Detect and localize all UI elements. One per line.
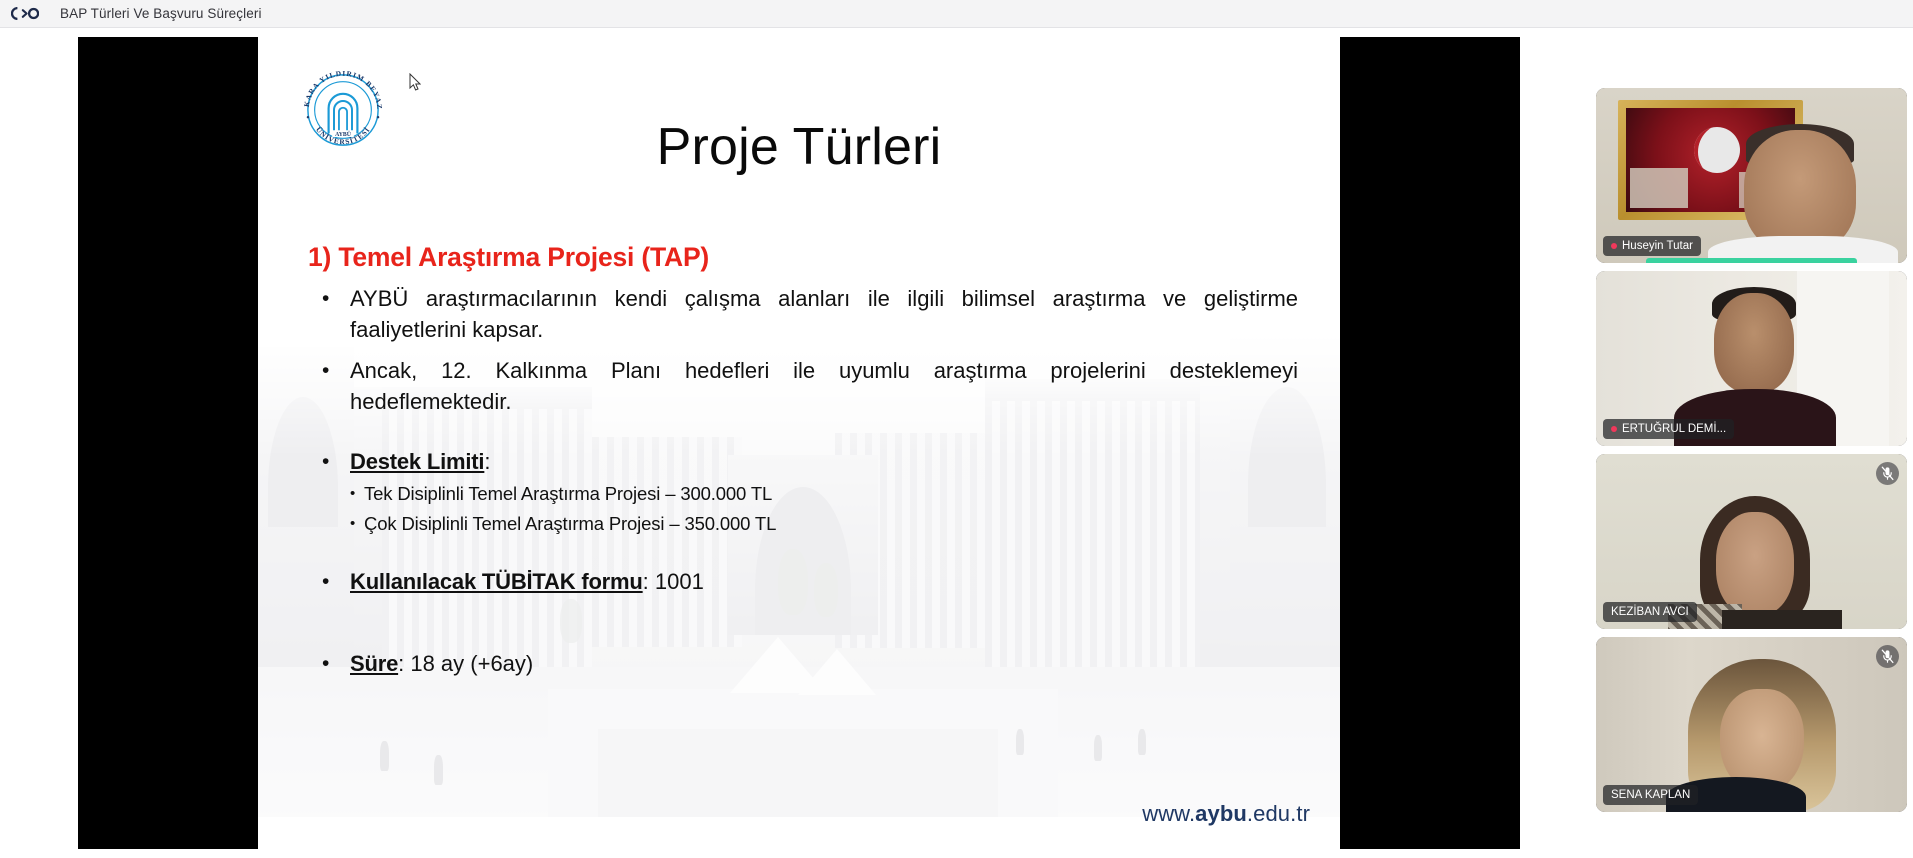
tubitak-form-line: Kullanılacak TÜBİTAK formu: 1001 <box>350 566 1298 597</box>
tubitak-form-label: Kullanılacak TÜBİTAK formu <box>350 569 643 594</box>
participant-tile[interactable]: Huseyin Tutar <box>1596 88 1907 263</box>
sure-line: Süre: 18 ay (+6ay) <box>350 648 1298 679</box>
bullet-text: Ancak, 12. Kalkınma Planı hedefleri ile … <box>350 355 1298 417</box>
sub-bullet-text: Çok Disiplinli Temel Araştırma Projesi –… <box>364 511 776 537</box>
bullet-marker: • <box>308 648 350 679</box>
participant-name-chip: ERTUĞRUL DEMİ... <box>1603 419 1734 439</box>
destek-sub-item: • Çok Disiplinli Temel Araştırma Projesi… <box>350 511 1298 537</box>
slide-body: 1) Temel Araştırma Projesi (TAP) • AYBÜ … <box>308 242 1298 679</box>
sure-value: : 18 ay (+6ay) <box>398 651 533 676</box>
participant-name-chip: SENA KAPLAN <box>1603 785 1698 805</box>
recording-dot-icon <box>1611 426 1617 432</box>
sub-bullet-text: Tek Disiplinli Temel Araştırma Projesi –… <box>364 481 772 507</box>
participant-tile[interactable]: KEZİBAN AVCI <box>1596 454 1907 629</box>
meeting-title: BAP Türleri Ve Başvuru Süreçleri <box>60 6 262 21</box>
sure-bullet: • Süre: 18 ay (+6ay) <box>308 648 1298 679</box>
participant-name: KEZİBAN AVCI <box>1611 606 1689 618</box>
tubitak-form-value: : 1001 <box>643 569 704 594</box>
shared-screen-stage[interactable]: ANKARA YILDIRIM BEYAZIT ÜNİVERSİTESİ AYB… <box>0 28 1590 858</box>
destek-limiti-bullet: • Destek Limiti: <box>308 446 1298 477</box>
sub-bullet-marker: • <box>350 511 364 537</box>
participant-name: ERTUĞRUL DEMİ... <box>1622 423 1726 435</box>
bullet-text: AYBÜ araştırmacılarının kendi çalışma al… <box>350 283 1298 345</box>
bullet-marker: • <box>308 566 350 597</box>
participant-name: SENA KAPLAN <box>1611 789 1690 801</box>
destek-limiti-line: Destek Limiti: <box>350 446 1298 477</box>
footer-prefix: www. <box>1142 801 1195 826</box>
slide-title: Proje Türleri <box>258 117 1340 177</box>
participant-tile[interactable]: ERTUĞRUL DEMİ... <box>1596 271 1907 446</box>
recording-dot-icon <box>1611 243 1617 249</box>
mic-muted-icon[interactable] <box>1876 645 1899 668</box>
mouse-pointer-icon <box>409 73 421 92</box>
presentation-slide: ANKARA YILDIRIM BEYAZIT ÜNİVERSİTESİ AYB… <box>258 37 1340 849</box>
tubitak-form-bullet: • Kullanılacak TÜBİTAK formu: 1001 <box>308 566 1298 597</box>
app-top-bar: BAP Türleri Ve Başvuru Süreçleri <box>0 0 1913 28</box>
participant-tile[interactable]: SENA KAPLAN <box>1596 637 1907 812</box>
screen-share-viewport[interactable]: ANKARA YILDIRIM BEYAZIT ÜNİVERSİTESİ AYB… <box>78 37 1520 849</box>
participant-name-chip: Huseyin Tutar <box>1603 236 1701 256</box>
bullet-item: • AYBÜ araştırmacılarının kendi çalışma … <box>308 283 1298 345</box>
participant-name: Huseyin Tutar <box>1622 240 1693 252</box>
sub-bullet-marker: • <box>350 481 364 507</box>
webex-logo-icon <box>11 7 39 20</box>
destek-limiti-colon: : <box>484 449 490 474</box>
destek-limiti-label: Destek Limiti <box>350 449 484 474</box>
bullet-marker: • <box>308 446 350 477</box>
footer-brand: aybu <box>1195 801 1247 826</box>
footer-suffix: .edu.tr <box>1247 801 1310 826</box>
slide-footer-url: www.aybu.edu.tr <box>1142 801 1310 827</box>
section-heading: 1) Temel Araştırma Projesi (TAP) <box>308 242 1298 273</box>
sure-label: Süre <box>350 651 398 676</box>
bullet-item: • Ancak, 12. Kalkınma Planı hedefleri il… <box>308 355 1298 417</box>
destek-sub-item: • Tek Disiplinli Temel Araştırma Projesi… <box>350 481 1298 507</box>
bullet-marker: • <box>308 355 350 386</box>
speaking-indicator <box>1646 258 1857 263</box>
mic-muted-icon[interactable] <box>1876 462 1899 485</box>
bullet-marker: • <box>308 283 350 314</box>
participant-name-chip: KEZİBAN AVCI <box>1603 602 1697 622</box>
participant-filmstrip[interactable]: Huseyin Tutar ERTUĞRUL DEMİ... <box>1590 28 1913 858</box>
